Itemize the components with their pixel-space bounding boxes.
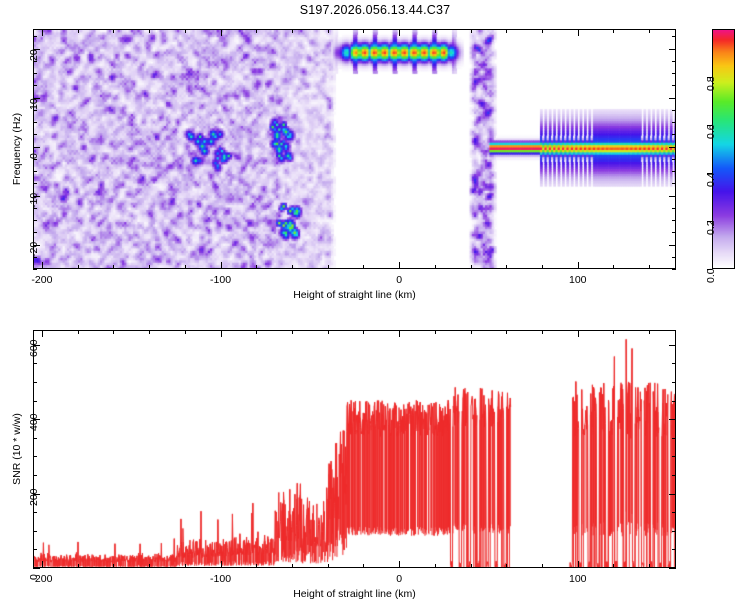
y-major-tick (669, 49, 676, 50)
x-minor-tick (78, 564, 79, 568)
x-minor-tick (435, 29, 436, 33)
colorbar-tick-label: 0.6 (705, 124, 717, 139)
x-minor-tick (185, 29, 186, 33)
y-minor-tick (672, 382, 676, 383)
x-minor-tick (613, 564, 614, 568)
y-minor-tick (672, 134, 676, 135)
y-minor-tick (672, 549, 676, 550)
x-minor-tick (471, 265, 472, 269)
x-tick-label: -100 (205, 274, 237, 286)
y-minor-tick (33, 134, 37, 135)
y-minor-tick (33, 73, 37, 74)
x-minor-tick (328, 564, 329, 568)
colorbar-tick-label: 0.4 (705, 172, 717, 187)
colorbar-tick-label: 0.2 (705, 220, 717, 235)
y-minor-tick (672, 269, 676, 270)
x-major-tick (221, 330, 222, 337)
x-major-tick (578, 561, 579, 568)
x-minor-tick (78, 330, 79, 334)
x-major-tick (578, 262, 579, 269)
x-minor-tick (435, 265, 436, 269)
x-minor-tick (506, 330, 507, 334)
x-minor-tick (649, 29, 650, 33)
y-minor-tick (33, 85, 37, 86)
y-minor-tick (672, 110, 676, 111)
y-tick-label: 20 (28, 49, 40, 61)
x-minor-tick (328, 330, 329, 334)
y-minor-tick (33, 438, 37, 439)
y-major-tick (33, 147, 40, 148)
x-minor-tick (256, 564, 257, 568)
x-minor-tick (149, 29, 150, 33)
y-minor-tick (33, 531, 37, 532)
y-major-tick (669, 98, 676, 99)
x-minor-tick (613, 29, 614, 33)
y-minor-tick (33, 549, 37, 550)
x-minor-tick (363, 29, 364, 33)
y-minor-tick (672, 171, 676, 172)
y-tick-label: 200 (28, 488, 40, 506)
y-major-tick (669, 494, 676, 495)
y-minor-tick (672, 401, 676, 402)
x-major-tick (221, 561, 222, 568)
x-minor-tick (113, 265, 114, 269)
x-minor-tick (542, 265, 543, 269)
y-minor-tick (672, 36, 676, 37)
x-minor-tick (649, 564, 650, 568)
y-major-tick (669, 245, 676, 246)
y-major-tick (33, 568, 40, 569)
x-minor-tick (542, 330, 543, 334)
y-minor-tick (672, 183, 676, 184)
x-minor-tick (292, 29, 293, 33)
x-minor-tick (649, 330, 650, 334)
spectrogram-plot (33, 29, 676, 269)
x-major-tick (42, 561, 43, 568)
y-minor-tick (672, 438, 676, 439)
y-minor-tick (33, 456, 37, 457)
x-minor-tick (292, 330, 293, 334)
y-tick-label: 400 (28, 414, 40, 432)
y-major-tick (669, 419, 676, 420)
x-tick-label: 100 (562, 573, 594, 585)
y-minor-tick (672, 363, 676, 364)
y-minor-tick (33, 36, 37, 37)
y-major-tick (669, 345, 676, 346)
x-minor-tick (613, 265, 614, 269)
y-minor-tick (33, 220, 37, 221)
x-minor-tick (435, 564, 436, 568)
y-minor-tick (672, 232, 676, 233)
x-minor-tick (256, 265, 257, 269)
y-minor-tick (33, 232, 37, 233)
snr-canvas (34, 331, 676, 568)
y-major-tick (669, 147, 676, 148)
x-major-tick (399, 330, 400, 337)
y-minor-tick (672, 257, 676, 258)
y-axis-title: Frequency (Hz) (11, 113, 23, 185)
x-minor-tick (149, 330, 150, 334)
x-tick-label: -100 (205, 573, 237, 585)
x-minor-tick (435, 330, 436, 334)
x-minor-tick (113, 29, 114, 33)
x-tick-label: 0 (383, 274, 415, 286)
x-minor-tick (328, 265, 329, 269)
x-minor-tick (149, 564, 150, 568)
x-minor-tick (328, 29, 329, 33)
x-major-tick (399, 262, 400, 269)
y-minor-tick (672, 220, 676, 221)
y-tick-label: 0 (28, 574, 40, 580)
x-minor-tick (292, 265, 293, 269)
x-tick-label: 100 (562, 274, 594, 286)
x-major-tick (578, 330, 579, 337)
figure-title: S197.2026.056.13.44.C37 (0, 3, 750, 17)
y-minor-tick (33, 512, 37, 513)
x-minor-tick (185, 330, 186, 334)
y-minor-tick (33, 269, 37, 270)
x-minor-tick (506, 265, 507, 269)
x-major-tick (42, 330, 43, 337)
x-minor-tick (113, 330, 114, 334)
figure-root: S197.2026.056.13.44.C37 -200-1000100Heig… (0, 0, 750, 600)
spectrogram-canvas (34, 30, 676, 269)
y-minor-tick (33, 363, 37, 364)
x-minor-tick (185, 265, 186, 269)
y-major-tick (669, 196, 676, 197)
y-minor-tick (672, 475, 676, 476)
x-minor-tick (471, 330, 472, 334)
x-minor-tick (78, 29, 79, 33)
x-minor-tick (613, 330, 614, 334)
x-tick-label: -200 (26, 274, 58, 286)
y-axis-title: SNR (10 * w/w) (11, 413, 23, 485)
y-minor-tick (672, 61, 676, 62)
y-minor-tick (672, 531, 676, 532)
x-minor-tick (542, 29, 543, 33)
y-minor-tick (672, 73, 676, 74)
x-minor-tick (185, 564, 186, 568)
x-minor-tick (78, 265, 79, 269)
x-tick-label: 0 (383, 573, 415, 585)
snr-plot (33, 330, 676, 568)
y-tick-label: -20 (28, 241, 40, 256)
x-minor-tick (471, 564, 472, 568)
x-major-tick (399, 561, 400, 568)
x-minor-tick (149, 265, 150, 269)
y-minor-tick (672, 456, 676, 457)
y-minor-tick (33, 122, 37, 123)
colorbar-tick-label: 0.8 (705, 76, 717, 91)
y-tick-label: 10 (28, 98, 40, 110)
x-minor-tick (506, 29, 507, 33)
y-tick-label: -10 (28, 192, 40, 207)
x-minor-tick (292, 564, 293, 568)
x-minor-tick (506, 564, 507, 568)
y-minor-tick (672, 208, 676, 209)
x-minor-tick (649, 265, 650, 269)
x-minor-tick (363, 564, 364, 568)
y-minor-tick (33, 171, 37, 172)
x-minor-tick (363, 330, 364, 334)
x-major-tick (399, 29, 400, 36)
y-major-tick (669, 568, 676, 569)
x-axis-title: Height of straight line (km) (33, 289, 676, 301)
y-minor-tick (33, 475, 37, 476)
x-major-tick (221, 262, 222, 269)
x-minor-tick (256, 330, 257, 334)
x-minor-tick (113, 564, 114, 568)
x-minor-tick (471, 29, 472, 33)
x-minor-tick (256, 29, 257, 33)
x-minor-tick (363, 265, 364, 269)
y-tick-label: 600 (28, 339, 40, 357)
x-major-tick (578, 29, 579, 36)
y-minor-tick (33, 183, 37, 184)
colorbar-tick-label: 0.0 (705, 268, 717, 283)
x-major-tick (42, 262, 43, 269)
y-minor-tick (672, 122, 676, 123)
y-minor-tick (672, 159, 676, 160)
y-minor-tick (672, 512, 676, 513)
y-minor-tick (33, 382, 37, 383)
x-major-tick (221, 29, 222, 36)
y-minor-tick (672, 85, 676, 86)
x-major-tick (42, 29, 43, 36)
y-tick-label: 0 (28, 153, 40, 159)
x-minor-tick (542, 564, 543, 568)
x-axis-title: Height of straight line (km) (33, 588, 676, 600)
y-minor-tick (33, 401, 37, 402)
